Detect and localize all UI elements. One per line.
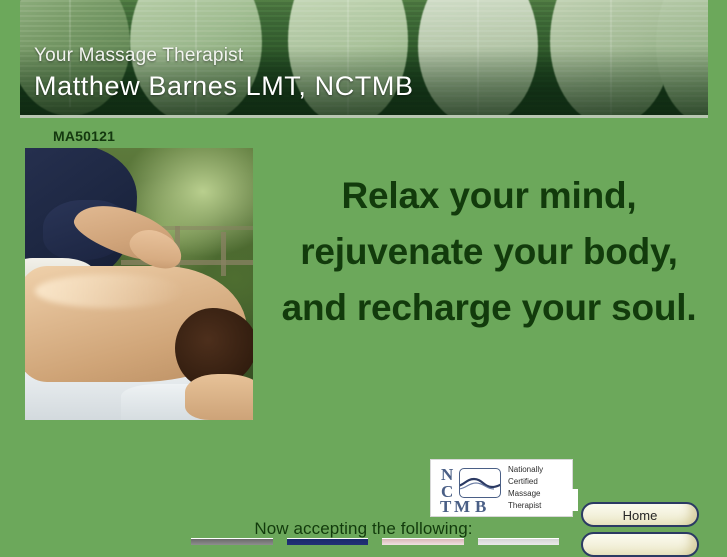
nctmb-certification-logo: N C T M B Nationally Certified Massage T… — [430, 459, 573, 517]
nctmb-box-icon — [459, 468, 501, 498]
accepted-card-logos — [191, 538, 559, 545]
hero-tagline: Relax your mind, rejuvenate your body, a… — [275, 168, 703, 337]
nav-panel-notch — [560, 489, 578, 511]
nav-button-home[interactable]: Home — [581, 502, 699, 527]
client-arm — [185, 374, 255, 420]
nctmb-letter-n: N — [441, 466, 453, 483]
banner-text-block: Your Massage Therapist Matthew Barnes LM… — [34, 46, 414, 103]
discover-logo-icon — [478, 538, 560, 545]
nctmb-letter-m: M — [454, 498, 470, 515]
fence-post — [221, 232, 226, 276]
nctmb-caption-line-1: Nationally — [508, 464, 543, 476]
banner-bottom-rule — [20, 115, 708, 118]
site-title: Matthew Barnes LMT, NCTMB — [34, 71, 414, 103]
nctmb-caption-line-4: Therapist — [508, 500, 543, 512]
nav-panel: Home — [560, 489, 727, 545]
wave-icon — [459, 475, 501, 493]
american-express-logo-icon — [382, 538, 464, 545]
fence-rail — [153, 226, 255, 230]
nctmb-caption-line-2: Certified — [508, 476, 543, 488]
nctmb-letter-b: B — [475, 498, 486, 515]
massage-photo — [23, 146, 255, 422]
site-tagline: Your Massage Therapist — [34, 46, 414, 65]
license-number: MA50121 — [53, 128, 115, 144]
nctmb-caption-line-3: Massage — [508, 488, 543, 500]
nctmb-caption: Nationally Certified Massage Therapist — [508, 464, 543, 513]
massage-photo-image — [25, 148, 253, 420]
nctmb-letter-t: T — [440, 498, 451, 515]
fence-rail — [121, 260, 255, 265]
client-back-highlight — [35, 274, 185, 308]
visa-logo-icon — [287, 538, 369, 545]
nctmb-mark-icon: N C T M B — [437, 462, 503, 514]
mastercard-logo-icon — [191, 538, 273, 545]
site-header-banner: Your Massage Therapist Matthew Barnes LM… — [20, 0, 708, 118]
